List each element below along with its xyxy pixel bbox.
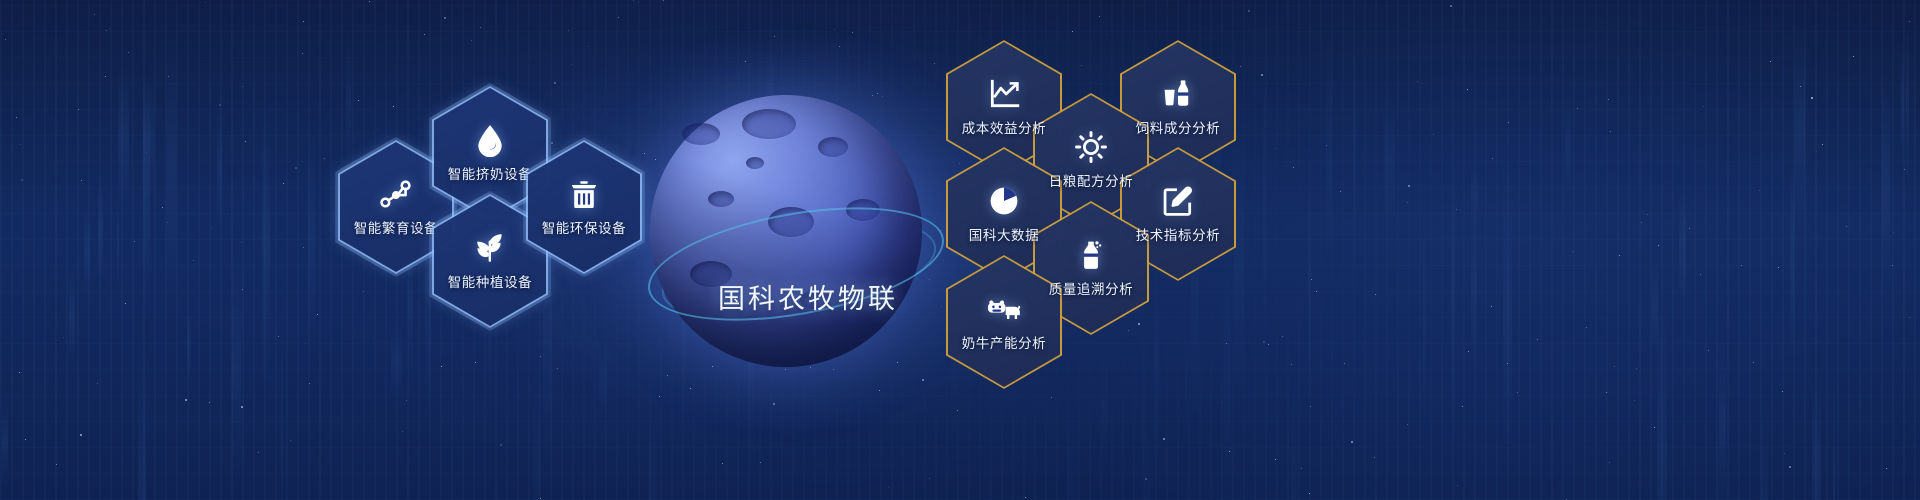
- cow-icon: [987, 292, 1021, 326]
- hex-label-planting: 智能种植设备: [448, 271, 533, 291]
- hex-cow-capacity[interactable]: 奶牛产能分析: [946, 255, 1062, 389]
- hex-label-ration-formula: 日粮配方分析: [1049, 170, 1134, 190]
- central-planet: 国科农牧物联: [650, 95, 940, 385]
- hex-eco[interactable]: 智能环保设备: [526, 140, 642, 274]
- milk-bottle-icon: [1074, 238, 1108, 272]
- hex-label-cost-benefit: 成本效益分析: [962, 117, 1047, 137]
- water-drop-icon: [473, 123, 507, 157]
- sun-icon: [1074, 130, 1108, 164]
- hex-label-traceability: 质量追溯分析: [1049, 278, 1134, 298]
- hex-label-big-data: 国科大数据: [969, 224, 1040, 244]
- pencil-edit-icon: [1161, 184, 1195, 218]
- line-chart-icon: [987, 77, 1021, 111]
- hex-label-tech-index: 技术指标分析: [1136, 224, 1221, 244]
- bottle-glass-icon: [1161, 77, 1195, 111]
- pie-chart-icon: [987, 184, 1021, 218]
- hex-label-feed-compose: 饲料成分分析: [1136, 117, 1221, 137]
- hex-label-milking: 智能挤奶设备: [448, 163, 533, 183]
- iot-platform-banner: 国科农牧物联 智能繁育设备智能挤奶设备智能种植设备智能环保设备 成本效益分析饲料…: [0, 0, 1920, 500]
- trash-bin-icon: [567, 177, 601, 211]
- network-node-icon: [379, 177, 413, 211]
- sprout-plant-icon: [473, 231, 507, 265]
- hex-label-cow-capacity: 奶牛产能分析: [962, 332, 1047, 352]
- hex-label-breeding: 智能繁育设备: [354, 217, 439, 237]
- page-title: 国科农牧物联: [718, 277, 958, 316]
- hex-label-eco: 智能环保设备: [542, 217, 627, 237]
